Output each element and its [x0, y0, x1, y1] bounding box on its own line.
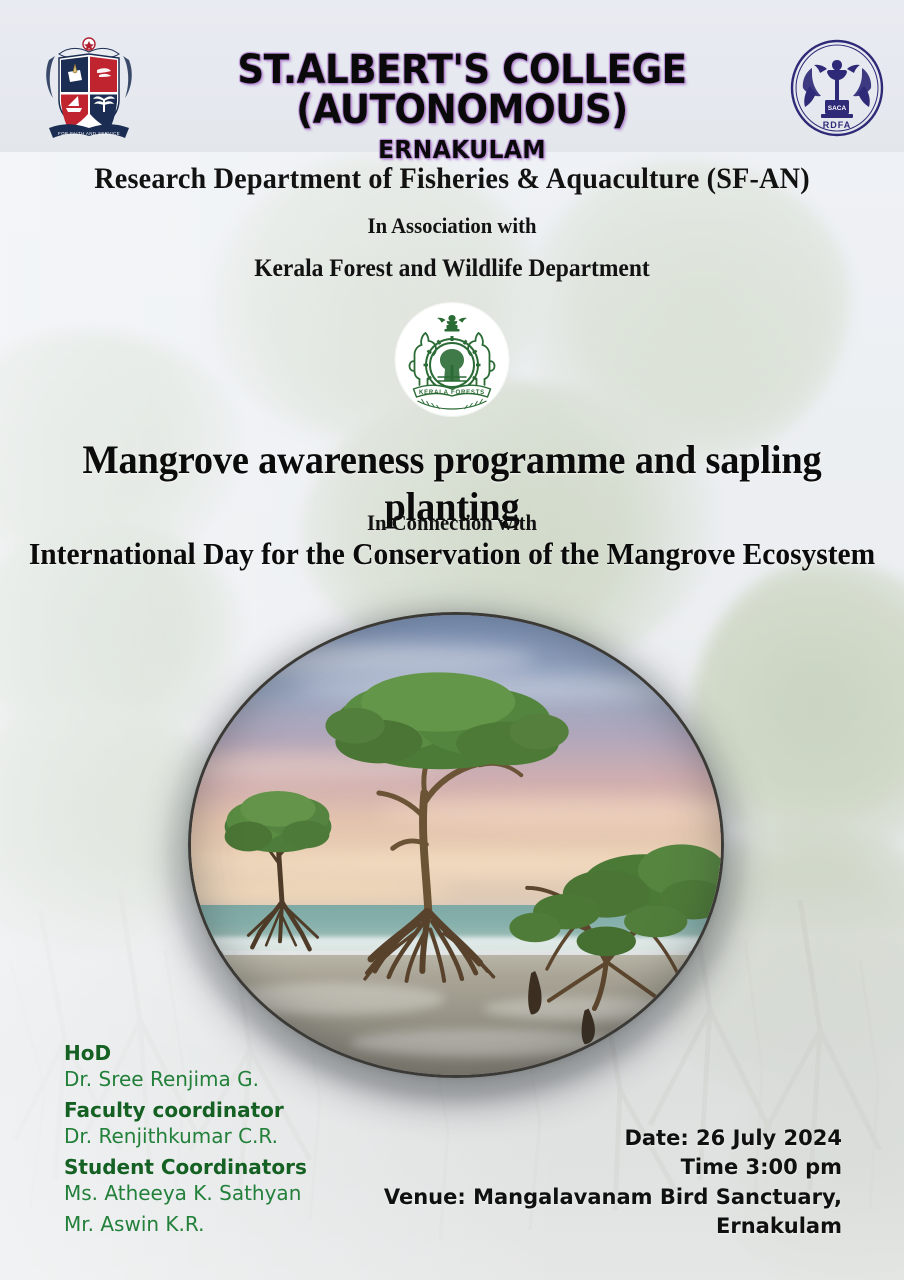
poster-header: FOR FAITH AND SERVICE ST.ALBERT'S COLLEG… — [0, 0, 904, 152]
college-crest-icon: FOR FAITH AND SERVICE — [35, 32, 143, 144]
credit-name-student-coordinator-2: Mr. Aswin K.R. — [64, 1211, 307, 1237]
mangrove-photo-frame — [188, 612, 724, 1078]
organiser-credits: HoD Dr. Sree Renjima G. Faculty coordina… — [64, 1040, 307, 1242]
connection-label: In Connection with — [27, 510, 877, 536]
kerala-forests-emblem-text: KERALA FORESTS — [419, 390, 485, 396]
credit-role-student-coordinators: Student Coordinators — [64, 1154, 307, 1180]
department-name: Research Department of Fisheries & Aquac… — [27, 162, 877, 196]
credit-name-hod: Dr. Sree Renjima G. — [64, 1066, 307, 1092]
event-time: Time 3:00 pm — [384, 1154, 842, 1181]
photo-vignette — [191, 615, 721, 1075]
department-block: Research Department of Fisheries & Aquac… — [0, 162, 904, 283]
partner-department: Kerala Forest and Wildlife Department — [27, 255, 877, 283]
college-title-block: ST.ALBERT'S COLLEGE (AUTONOMOUS) ERNAKUL… — [150, 50, 774, 164]
credit-role-faculty-coordinator: Faculty coordinator — [64, 1097, 307, 1123]
rdfa-emblem-icon: SACA RDFA — [788, 38, 886, 138]
connection-title: International Day for the Conservation o… — [23, 536, 882, 572]
event-details: Date: 26 July 2024 Time 3:00 pm Venue: M… — [384, 1125, 842, 1242]
association-label: In Association with — [27, 213, 877, 239]
event-date: Date: 26 July 2024 — [384, 1125, 842, 1152]
svg-text:FOR FAITH AND SERVICE: FOR FAITH AND SERVICE — [58, 131, 120, 136]
kerala-forests-emblem-icon: KERALA FORESTS — [396, 303, 509, 416]
rdfa-top-text: SACA — [828, 105, 847, 112]
college-place: ERNAKULAM — [172, 136, 752, 164]
event-poster: FOR FAITH AND SERVICE ST.ALBERT'S COLLEG… — [0, 0, 904, 1280]
college-name: ST.ALBERT'S COLLEGE (AUTONOMOUS) — [172, 50, 752, 130]
credit-role-hod: HoD — [64, 1040, 307, 1066]
event-venue-line2: Ernakulam — [384, 1213, 842, 1240]
credit-name-student-coordinator-1: Ms. Atheeya K. Sathyan — [64, 1180, 307, 1206]
mangrove-photo — [188, 612, 724, 1078]
rdfa-label: RDFA — [823, 120, 852, 130]
credit-name-faculty-coordinator: Dr. Renjithkumar C.R. — [64, 1123, 307, 1149]
event-venue-line1: Venue: Mangalavanam Bird Sanctuary, — [384, 1184, 842, 1211]
